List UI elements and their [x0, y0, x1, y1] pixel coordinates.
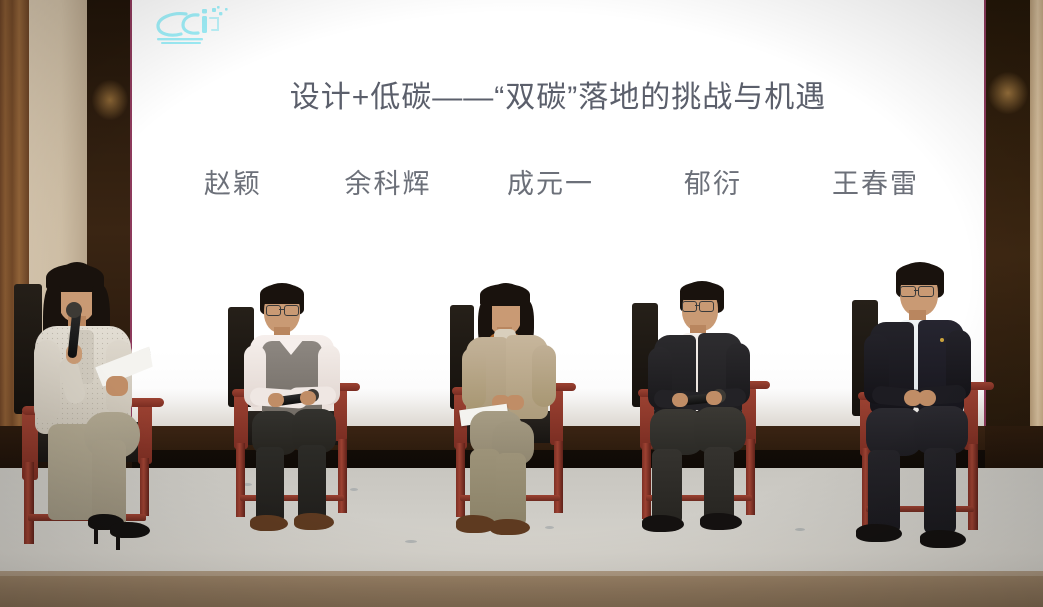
gci-logo-icon	[152, 4, 236, 48]
panelist-5-figure	[846, 262, 1006, 552]
panelist-2-shoe-right	[294, 513, 334, 530]
panelist-name-block-3: 成元一	[468, 166, 633, 207]
panelist-name-block-4: 郁衍	[633, 166, 793, 207]
panelist-4-figure	[628, 281, 788, 533]
panelist-5-lapel-pin	[940, 338, 944, 342]
panelist-2-shoe-left	[250, 515, 288, 531]
panelist-name-3: 成元一	[468, 166, 633, 202]
panelist-4-shoe-left	[642, 515, 684, 532]
panelist-1-figure	[10, 262, 185, 557]
panelist-4-shoe-right	[700, 513, 742, 530]
panelist-name-block-2: 余科辉	[308, 166, 468, 207]
stage-scene: 设计+低碳——“双碳”落地的挑战与机遇 赵颖 余科辉 成元一 郁衍 王春雷	[0, 0, 1043, 607]
panelist-5-shoe-left	[856, 524, 902, 542]
panelist-2-figure	[222, 283, 382, 533]
panelist-name-block-1: 赵颖	[158, 166, 308, 207]
panelist-4-glasses-icon	[682, 301, 697, 312]
panelist-5-glasses-icon	[900, 286, 916, 297]
left-wall-light-glow	[92, 80, 128, 120]
stage-front-edge	[0, 571, 1043, 607]
panelist-name-5: 王春雷	[793, 166, 958, 202]
panelist-3-boot-right	[490, 519, 530, 535]
panelist-5-shoe-right	[920, 530, 966, 548]
panelist-name-block-5: 王春雷	[793, 166, 958, 207]
panelist-name-1: 赵颖	[158, 166, 308, 202]
panelist-name-2: 余科辉	[308, 166, 468, 202]
right-wall-light-glow	[988, 72, 1028, 114]
stage-edge-highlight	[0, 571, 1043, 576]
slide-title: 设计+低碳——“双碳”落地的挑战与机遇	[132, 78, 984, 118]
panelist-2-glasses-icon	[266, 305, 281, 316]
panelist-name-4: 郁衍	[633, 166, 793, 202]
panelist-3-figure	[444, 283, 594, 533]
panelist-name-row: 赵颖 余科辉 成元一 郁衍 王春雷	[132, 166, 984, 207]
